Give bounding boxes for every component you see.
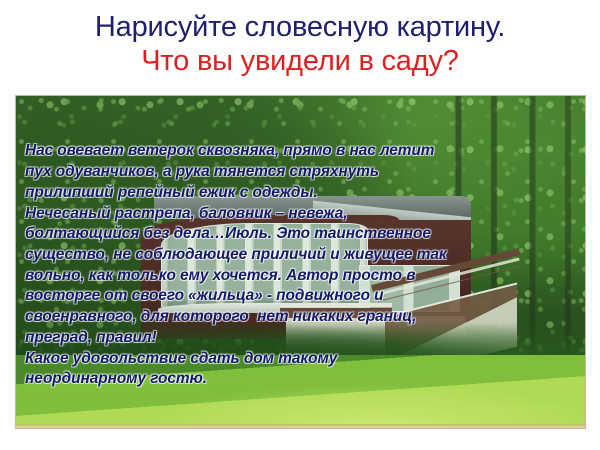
body-text-content: Нас овевает ветерок сквозняка, прямо в н… [25, 141, 579, 390]
title-line-1: Нарисуйте словесную картину. [0, 12, 600, 43]
title-line-2: Что вы увидели в саду? [0, 46, 600, 77]
slide-title: Нарисуйте словесную картину. Что вы увид… [0, 12, 600, 78]
body-text: Нас овевает ветерок сквозняка, прямо в н… [25, 100, 579, 429]
photo-text-panel: Нас овевает ветерок сквозняка, прямо в н… [15, 95, 586, 429]
presentation-slide: Нарисуйте словесную картину. Что вы увид… [0, 0, 600, 450]
